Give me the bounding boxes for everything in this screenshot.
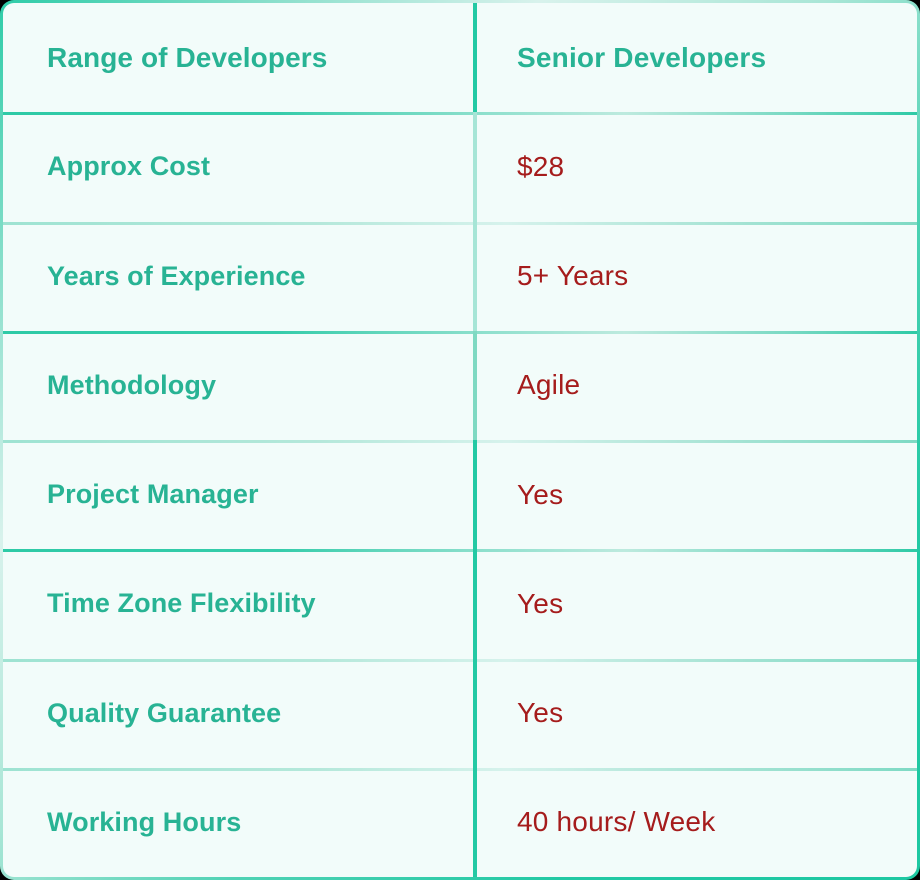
row-label-project-manager: Project Manager [47,479,259,510]
table-row-years-of-experience: Years of Experience 5+ Years [3,222,917,331]
row-label-cell-working-hours: Working Hours [3,768,473,877]
row-value-cell-project-manager: Yes [473,440,917,549]
row-value-working-hours: 40 hours/ Week [517,806,715,838]
row-label-cell-quality-guarantee: Quality Guarantee [3,659,473,768]
table-row-time-zone-flexibility: Time Zone Flexibility Yes [3,549,917,658]
row-label-quality-guarantee: Quality Guarantee [47,698,281,729]
table-row-approx-cost: Approx Cost $28 [3,112,917,221]
row-label-cell-approx-cost: Approx Cost [3,112,473,221]
row-label-cell-methodology: Methodology [3,331,473,440]
row-value-cell-methodology: Agile [473,331,917,440]
row-value-project-manager: Yes [517,479,563,511]
header-cell-category: Range of Developers [3,3,473,112]
row-value-cell-working-hours: 40 hours/ Week [473,768,917,877]
row-label-cell-time-zone-flexibility: Time Zone Flexibility [3,549,473,658]
table-row-working-hours: Working Hours 40 hours/ Week [3,768,917,877]
row-label-working-hours: Working Hours [47,807,241,838]
row-label-cell-years-of-experience: Years of Experience [3,222,473,331]
header-label-senior-developers: Senior Developers [517,42,766,74]
row-label-approx-cost: Approx Cost [47,151,210,182]
table-body: Range of Developers Senior Developers Ap… [3,3,917,877]
row-value-quality-guarantee: Yes [517,697,563,729]
table-row-quality-guarantee: Quality Guarantee Yes [3,659,917,768]
header-label-range-of-developers: Range of Developers [47,42,327,74]
row-label-methodology: Methodology [47,370,216,401]
table-header-row: Range of Developers Senior Developers [3,3,917,112]
row-label-time-zone-flexibility: Time Zone Flexibility [47,588,316,619]
row-value-cell-quality-guarantee: Yes [473,659,917,768]
row-value-approx-cost: $28 [517,151,564,183]
row-value-methodology: Agile [517,369,580,401]
row-value-time-zone-flexibility: Yes [517,588,563,620]
row-label-years-of-experience: Years of Experience [47,261,306,292]
table-row-project-manager: Project Manager Yes [3,440,917,549]
header-cell-plan: Senior Developers [473,3,917,112]
row-value-years-of-experience: 5+ Years [517,260,628,292]
row-value-cell-time-zone-flexibility: Yes [473,549,917,658]
row-value-cell-years-of-experience: 5+ Years [473,222,917,331]
table-row-methodology: Methodology Agile [3,331,917,440]
row-value-cell-approx-cost: $28 [473,112,917,221]
comparison-table: Range of Developers Senior Developers Ap… [0,0,920,880]
row-label-cell-project-manager: Project Manager [3,440,473,549]
